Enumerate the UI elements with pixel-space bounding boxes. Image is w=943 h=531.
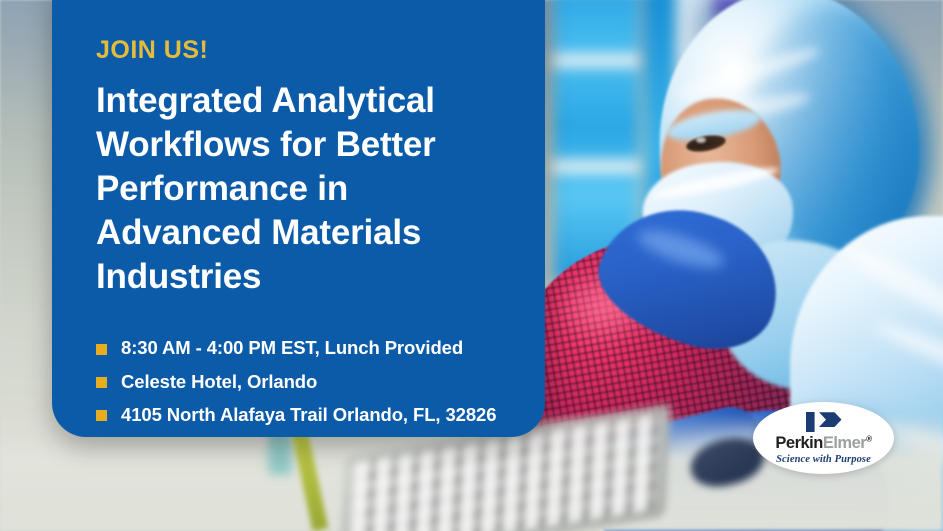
content-panel: JOIN US! Integrated Analytical Workflows… <box>52 0 545 437</box>
logo-word-elmer: Elmer <box>823 434 866 452</box>
list-item-label: Celeste Hotel, Orlando <box>121 371 317 393</box>
logo-tagline: Science with Purpose <box>776 454 871 465</box>
registered-mark-icon: ® <box>866 435 871 444</box>
eyebrow-text: JOIN US! <box>96 38 519 63</box>
logo-word-perkin: Perkin <box>775 434 822 452</box>
logo-wordmark: PerkinElmer® <box>775 435 871 452</box>
square-bullet-icon <box>96 344 107 355</box>
list-item: 8:30 AM - 4:00 PM EST, Lunch Provided <box>96 337 519 359</box>
list-item-label: 8:30 AM - 4:00 PM EST, Lunch Provided <box>121 337 463 359</box>
content-panel-inner: JOIN US! Integrated Analytical Workflows… <box>96 38 519 437</box>
list-item-label: 4105 North Alafaya Trail Orlando, FL, 32… <box>121 404 496 426</box>
page-title: Integrated Analytical Workflows for Bett… <box>96 79 519 299</box>
square-bullet-icon <box>96 377 107 388</box>
perkinelmer-logo: PerkinElmer® Science with Purpose <box>753 402 894 474</box>
perkinelmer-p-arrow-icon <box>800 411 848 433</box>
list-item: Celeste Hotel, Orlando <box>96 371 519 393</box>
event-details-list: 8:30 AM - 4:00 PM EST, Lunch Provided Ce… <box>96 337 519 426</box>
event-promo-banner: JOIN US! Integrated Analytical Workflows… <box>0 0 943 531</box>
square-bullet-icon <box>96 410 107 421</box>
list-item: 4105 North Alafaya Trail Orlando, FL, 32… <box>96 404 519 426</box>
